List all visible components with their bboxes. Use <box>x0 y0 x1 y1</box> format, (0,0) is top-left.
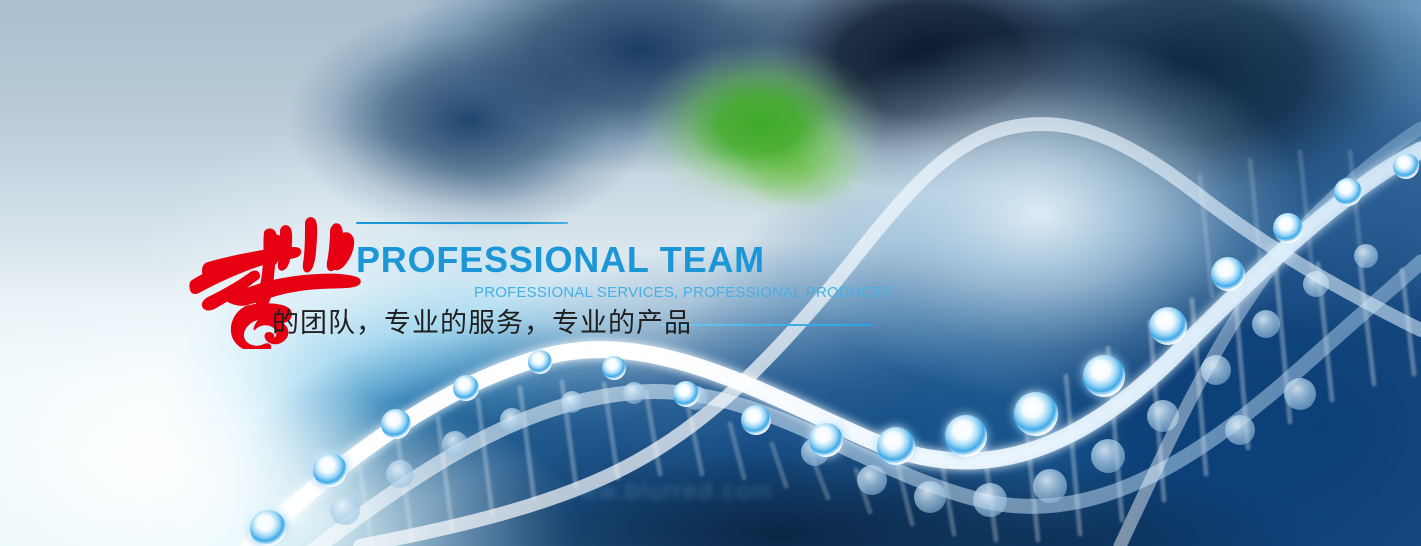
page-title: PROFESSIONAL TEAM <box>356 242 765 278</box>
background-watermark: www.blurred.com <box>560 478 774 506</box>
bottom-divider-rule <box>661 324 873 326</box>
top-divider-rule <box>356 222 568 224</box>
page-subtitle: PROFESSIONAL SERVICES, PROFESSIONAL PROD… <box>474 285 892 300</box>
tagline-chinese: 的团队，专业的服务，专业的产品 <box>272 307 692 341</box>
banner-hero: PROFESSIONAL TEAM PROFESSIONAL SERVICES,… <box>0 0 1421 546</box>
hero-content: PROFESSIONAL TEAM PROFESSIONAL SERVICES,… <box>0 0 1421 546</box>
